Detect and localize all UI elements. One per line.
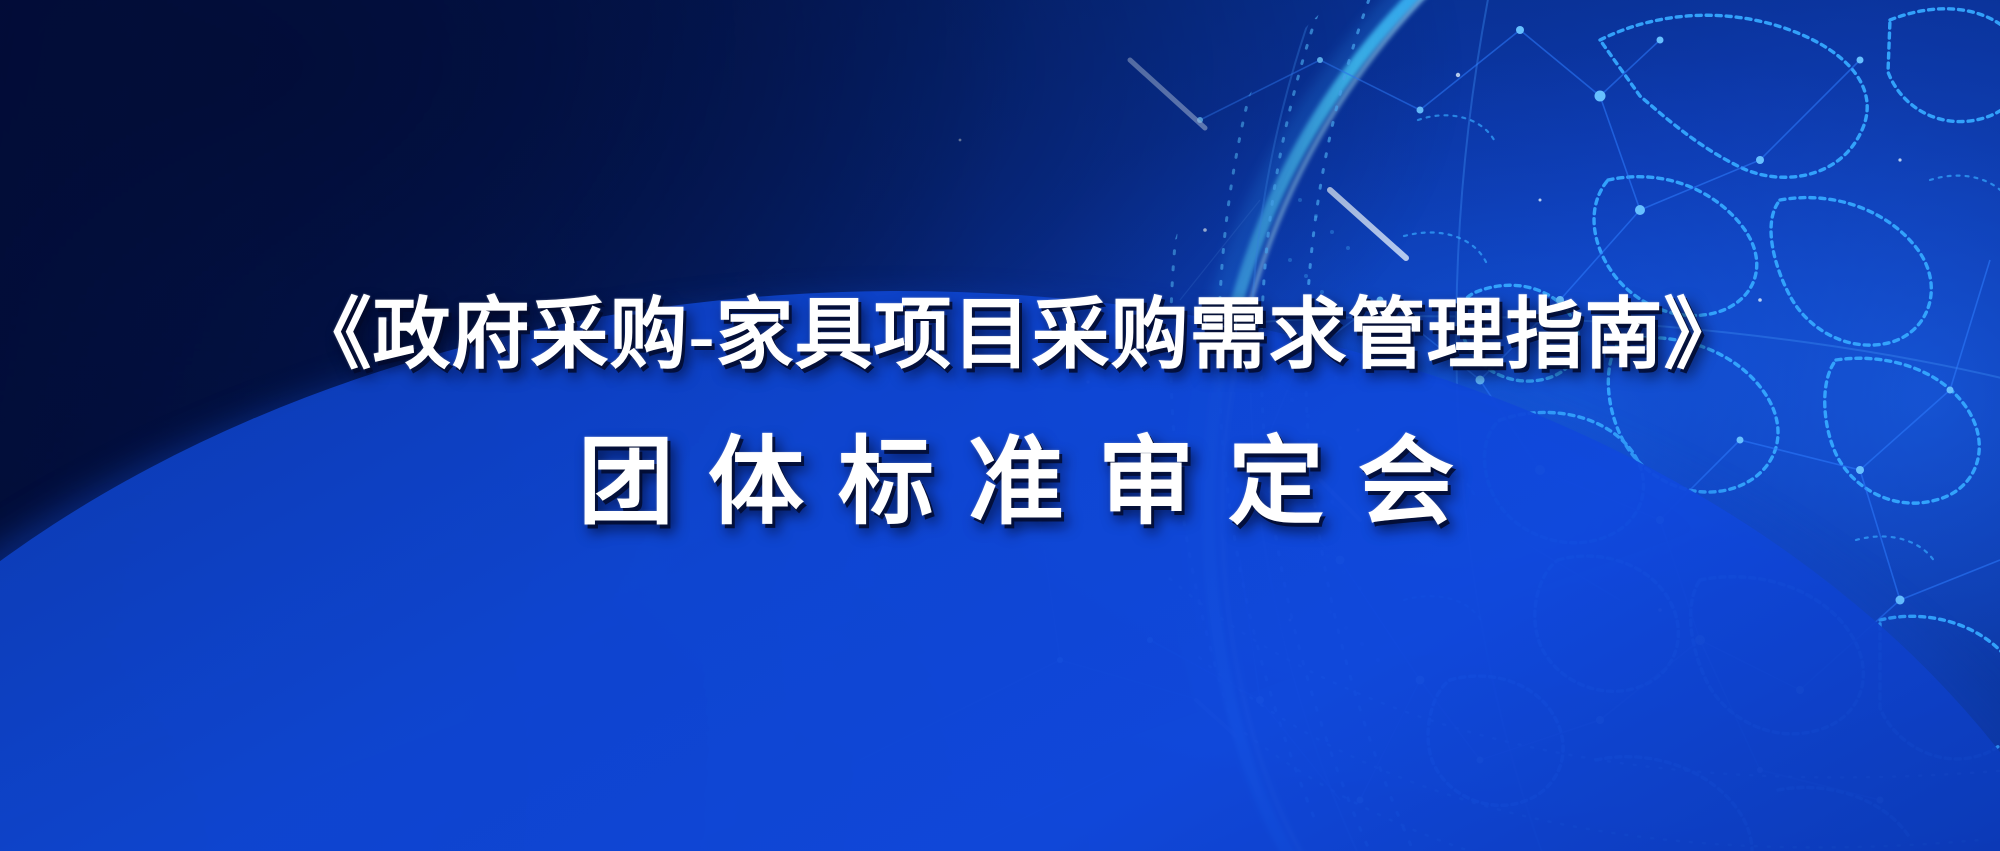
- banner-title-line-1: 《政府采购-家具项目采购需求管理指南》: [18, 272, 2000, 384]
- title-block: 《政府采购-家具项目采购需求管理指南》 团体标准审定会: [0, 0, 2000, 851]
- banner-stage: 《政府采购-家具项目采购需求管理指南》 团体标准审定会: [0, 0, 2000, 851]
- banner-title-line-2: 团体标准审定会: [16, 404, 2000, 543]
